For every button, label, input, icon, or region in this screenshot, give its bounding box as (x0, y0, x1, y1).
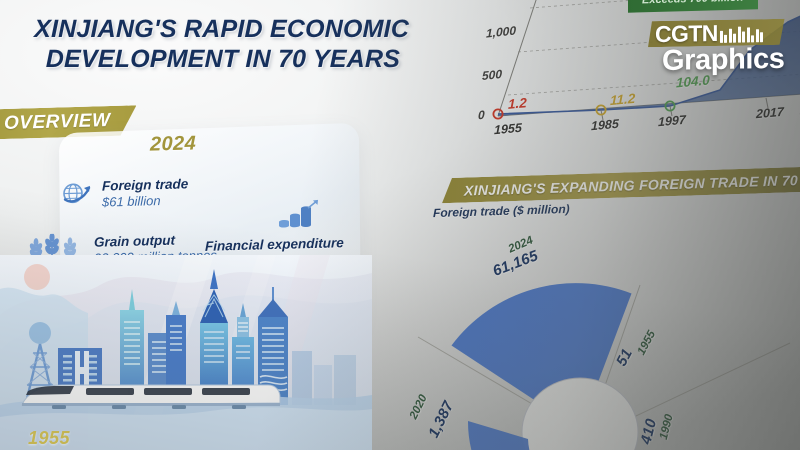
line-chart-point-label-1955: 1.2 (508, 95, 527, 112)
line-chart-xtick-1997: 1997 (658, 113, 686, 129)
cgtn-logo-row: CGTN (648, 19, 785, 47)
line-chart-point-label-1985: 11.2 (610, 91, 635, 108)
line-chart-xtick-1955: 1955 (494, 121, 522, 137)
cgtn-graphics-wordmark: Graphics (648, 44, 785, 76)
cgtn-wordmark: CGTN (655, 22, 718, 46)
infographic-canvas: 1,500 1,000 500 0 1955 1985 1997 2017 20… (0, 0, 800, 450)
line-chart-xtick-1985: 1985 (591, 117, 619, 133)
overview-year-label: 2024 (150, 132, 196, 156)
stat-foreign-trade-value: $61 billion (102, 192, 188, 210)
skyline-year-label: 1955 (28, 428, 70, 449)
coin-bars-icon (277, 199, 321, 235)
foreign-trade-radial-chart: 2024 61,165 1955 51 1990 410 2020 1,387 (400, 225, 800, 450)
stat-foreign-trade: Foreign trade $61 billion (60, 176, 188, 211)
bar-chart-icon (720, 26, 764, 45)
line-chart-ytick-500: 500 (482, 67, 502, 83)
page-title: XINJIANG'S RAPID ECONOMIC DEVELOPMENT IN… (34, 14, 455, 74)
radial-chart-svg (400, 225, 800, 450)
foreign-trade-section-banner: XINJIANG'S EXPANDING FOREIGN TRADE IN 70… (442, 166, 800, 204)
page-title-line-1: XINJIANG'S RAPID ECONOMIC (34, 14, 454, 44)
stat-foreign-trade-label: Foreign trade (102, 176, 188, 194)
exceeds-annotation-label: Exceeds 700 billion (642, 0, 744, 6)
city-skyline-illustration (0, 255, 372, 450)
foreign-trade-subtitle: Foreign trade ($ million) (433, 202, 570, 220)
page-title-line-2: DEVELOPMENT IN 70 YEARS (34, 44, 454, 74)
line-chart-xtick-2017: 2017 (756, 105, 784, 121)
line-chart-ytick-0: 0 (478, 108, 485, 123)
globe-arrow-icon (60, 179, 94, 211)
foreign-trade-banner-label: XINJIANG'S EXPANDING FOREIGN TRADE IN 70… (464, 171, 800, 198)
cgtn-graphics-logo: CGTN Graphics (648, 19, 785, 76)
